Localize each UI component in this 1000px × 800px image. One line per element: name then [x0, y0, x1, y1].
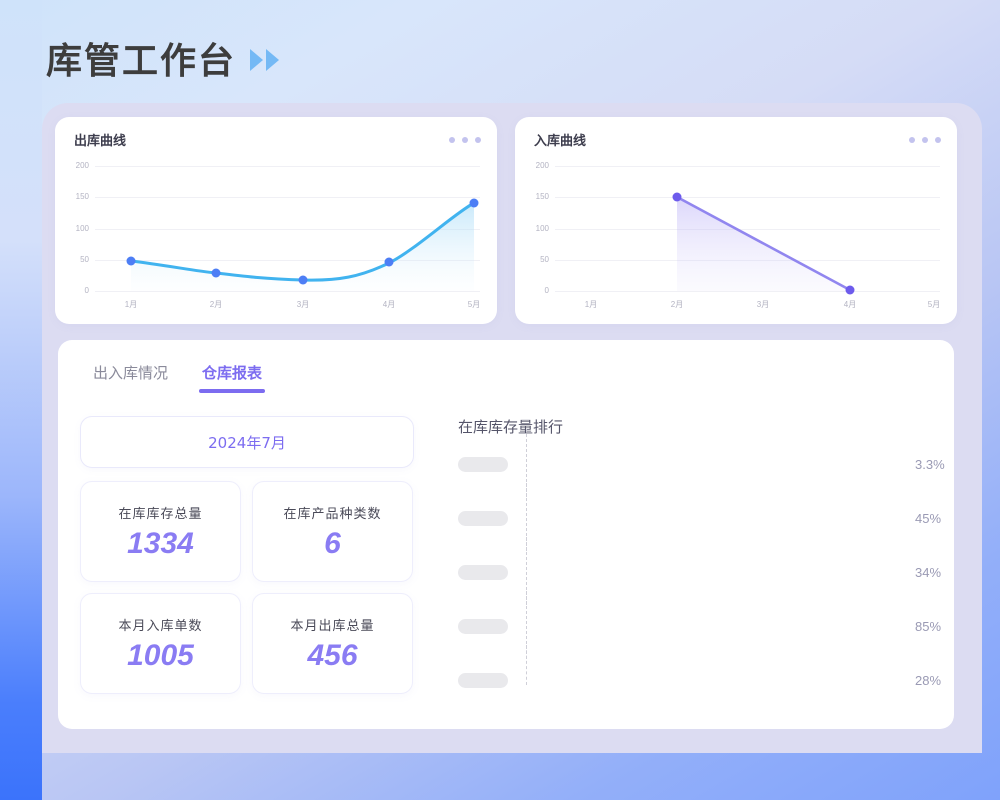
ranking-percent: 28%	[915, 673, 941, 688]
inbound-chart-card: 入库曲线 200 150 100 50 0	[515, 117, 957, 324]
ranking-percent: 45%	[915, 511, 941, 526]
x-tick-2: 2月	[201, 299, 231, 310]
ranking-title: 在库库存量排行	[458, 416, 928, 437]
ranking-percent: 85%	[915, 619, 941, 634]
x-tick-2: 2月	[662, 299, 692, 310]
x-tick-5: 5月	[919, 299, 949, 310]
more-dots-icon[interactable]	[449, 137, 481, 143]
ranking-label-placeholder	[458, 673, 508, 688]
inbound-chart-title: 入库曲线	[534, 130, 586, 149]
stat-card-product-types: 在库产品种类数 6	[252, 481, 413, 582]
stat-value: 1005	[127, 639, 194, 673]
stat-label: 本月入库单数	[118, 615, 202, 634]
charts-row: 出库曲线 200 150 100 50 0	[55, 117, 957, 324]
ranking-baseline-dash	[526, 645, 527, 685]
ranking-label-placeholder	[458, 565, 508, 580]
stat-value: 6	[324, 527, 341, 561]
ranking-row: 3.3%	[458, 457, 928, 471]
more-dots-icon[interactable]	[909, 137, 941, 143]
stat-grid: 在库库存总量 1334 在库产品种类数 6 本月入库单数 1005 本月出库总量…	[80, 481, 414, 694]
report-body: 2024年7月 在库库存总量 1334 在库产品种类数 6 本月入库单数 100…	[58, 402, 954, 729]
stat-label: 在库产品种类数	[283, 503, 381, 522]
x-tick-4: 4月	[835, 299, 865, 310]
outbound-chart-card: 出库曲线 200 150 100 50 0	[55, 117, 497, 324]
inbound-chart-plot: 200 150 100 50 0 1月 2月 3月 4月	[515, 153, 957, 324]
stat-value: 456	[307, 639, 357, 673]
ranking-row: 34%	[458, 565, 928, 579]
x-tick-4: 4月	[374, 299, 404, 310]
month-selector[interactable]: 2024年7月	[80, 416, 414, 468]
stat-label: 本月出库总量	[290, 615, 374, 634]
ranking-label-placeholder	[458, 511, 508, 526]
outbound-chart-header: 出库曲线	[74, 130, 481, 149]
ranking-row: 45%	[458, 511, 928, 525]
x-tick-3: 3月	[288, 299, 318, 310]
stats-column: 2024年7月 在库库存总量 1334 在库产品种类数 6 本月入库单数 100…	[80, 416, 418, 694]
ranking-row: 85%	[458, 619, 928, 633]
report-card: 出入库情况 仓库报表 2024年7月 在库库存总量 1334 在库产品种类数 6…	[58, 340, 954, 729]
ranking-percent: 34%	[915, 565, 941, 580]
ranking-percent: 3.3%	[915, 457, 945, 472]
x-tick-3: 3月	[748, 299, 778, 310]
tab-inout-status[interactable]: 出入库情况	[93, 362, 168, 393]
x-tick-5: 5月	[459, 299, 489, 310]
double-chevron-right-icon	[250, 49, 279, 71]
left-edge-stripe	[0, 0, 42, 800]
outbound-chart-plot: 200 150 100 50 0 1月	[55, 153, 497, 324]
ranking-section: 在库库存量排行 3.3%	[458, 416, 928, 687]
page-title: 库管工作台	[46, 32, 279, 84]
outbound-chart-title: 出库曲线	[74, 130, 126, 149]
ranking-row: 28%	[458, 673, 928, 687]
ranking-label-placeholder	[458, 619, 508, 634]
stat-label: 在库库存总量	[118, 503, 202, 522]
x-tick-1: 1月	[116, 299, 146, 310]
stat-card-inbound-orders: 本月入库单数 1005	[80, 593, 241, 694]
report-tabs: 出入库情况 仓库报表	[93, 362, 262, 393]
tab-warehouse-report[interactable]: 仓库报表	[202, 362, 262, 393]
page-title-text: 库管工作台	[46, 32, 236, 84]
stat-card-total-stock: 在库库存总量 1334	[80, 481, 241, 582]
x-tick-1: 1月	[576, 299, 606, 310]
inbound-chart-header: 入库曲线	[534, 130, 941, 149]
ranking-label-placeholder	[458, 457, 508, 472]
stat-card-outbound-total: 本月出库总量 456	[252, 593, 413, 694]
stat-value: 1334	[127, 527, 194, 561]
